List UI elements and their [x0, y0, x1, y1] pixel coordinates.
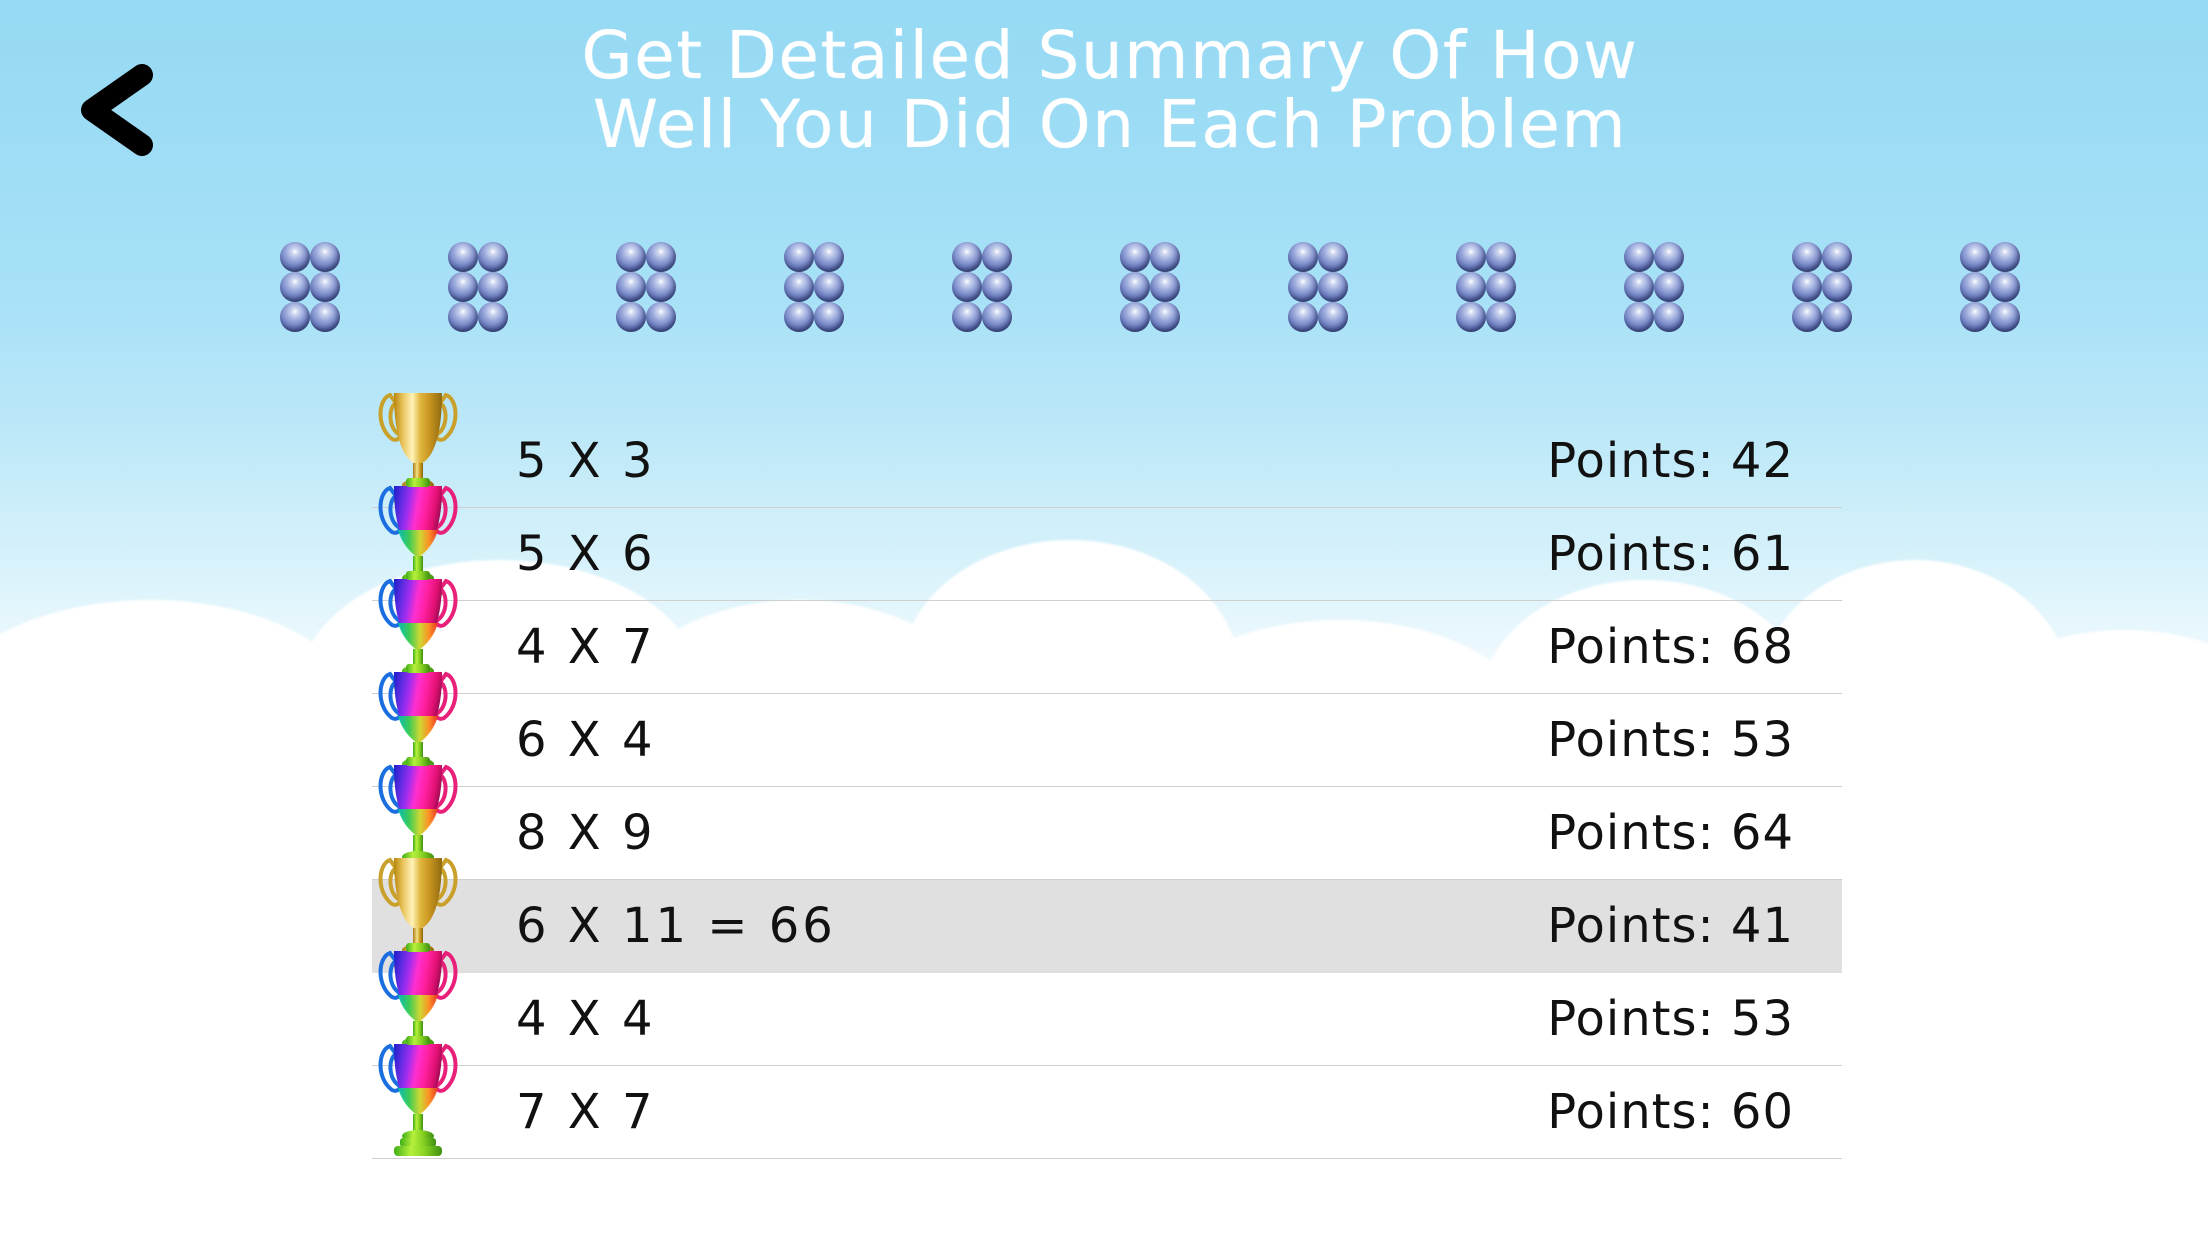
ball-icon — [1318, 242, 1348, 272]
ball-icon — [280, 242, 310, 272]
ball-icon — [1990, 242, 2020, 272]
ball-icon — [1120, 272, 1150, 302]
points-value: Points: 42 — [1547, 433, 1794, 489]
ball-icon — [784, 302, 814, 332]
ball-icon — [1456, 242, 1486, 272]
ball-cluster-icon — [784, 242, 844, 332]
ball-icon — [1150, 272, 1180, 302]
ball-icon — [1456, 302, 1486, 332]
ball-icon — [280, 302, 310, 332]
problem-text: 4 X 4 — [516, 991, 655, 1047]
problem-text: 6 X 11 = 66 — [516, 898, 836, 954]
problem-text: 7 X 7 — [516, 1084, 655, 1140]
ball-icon — [982, 302, 1012, 332]
ball-icon — [814, 242, 844, 272]
ball-icon — [1624, 242, 1654, 272]
ball-icon — [1990, 302, 2020, 332]
ball-icon — [1792, 272, 1822, 302]
problem-text: 5 X 3 — [516, 433, 655, 489]
ball-icon — [646, 272, 676, 302]
ball-icon — [1654, 242, 1684, 272]
ball-icon — [1960, 272, 1990, 302]
ball-icon — [478, 302, 508, 332]
ball-icon — [814, 272, 844, 302]
ball-icon — [1624, 272, 1654, 302]
ball-icon — [1792, 242, 1822, 272]
ball-icon — [952, 302, 982, 332]
ball-icon — [1288, 302, 1318, 332]
points-value: Points: 68 — [1547, 619, 1794, 675]
ball-icon — [310, 272, 340, 302]
dot-cluster-strip — [280, 232, 2020, 342]
ball-cluster-icon — [448, 242, 508, 332]
ball-icon — [814, 302, 844, 332]
ball-icon — [952, 272, 982, 302]
problem-text: 6 X 4 — [516, 712, 655, 768]
ball-icon — [1990, 272, 2020, 302]
trophy-gold — [370, 377, 466, 509]
ball-icon — [1120, 302, 1150, 332]
ball-icon — [1654, 302, 1684, 332]
ball-icon — [448, 302, 478, 332]
ball-cluster-icon — [616, 242, 676, 332]
result-row[interactable]: 6 X 4Points: 53 — [372, 694, 1842, 787]
result-row[interactable]: 5 X 3Points: 42 — [372, 415, 1842, 508]
problem-text: 4 X 7 — [516, 619, 655, 675]
points-value: Points: 53 — [1547, 991, 1794, 1047]
ball-icon — [646, 302, 676, 332]
results-list: 5 X 3Points: 42 — [372, 415, 1842, 1159]
ball-icon — [616, 272, 646, 302]
result-row[interactable]: 4 X 7Points: 68 — [372, 601, 1842, 694]
ball-cluster-icon — [1456, 242, 1516, 332]
ball-icon — [616, 302, 646, 332]
problem-text: 5 X 6 — [516, 526, 655, 582]
trophy-gold-icon — [370, 377, 466, 509]
ball-icon — [1318, 272, 1348, 302]
ball-icon — [982, 242, 1012, 272]
ball-icon — [448, 272, 478, 302]
ball-icon — [1318, 302, 1348, 332]
ball-icon — [280, 272, 310, 302]
ball-icon — [982, 272, 1012, 302]
ball-icon — [1288, 242, 1318, 272]
result-row[interactable]: 4 X 4Points: 53 — [372, 973, 1842, 1066]
ball-icon — [478, 242, 508, 272]
ball-icon — [1822, 242, 1852, 272]
ball-icon — [1792, 302, 1822, 332]
ball-icon — [1486, 242, 1516, 272]
ball-icon — [448, 242, 478, 272]
ball-icon — [952, 242, 982, 272]
ball-icon — [1822, 272, 1852, 302]
ball-icon — [1960, 302, 1990, 332]
ball-cluster-icon — [1624, 242, 1684, 332]
ball-cluster-icon — [1792, 242, 1852, 332]
ball-icon — [1150, 302, 1180, 332]
ball-icon — [310, 302, 340, 332]
ball-icon — [784, 242, 814, 272]
points-value: Points: 64 — [1547, 805, 1794, 861]
result-row[interactable]: 8 X 9Points: 64 — [372, 787, 1842, 880]
problem-text: 8 X 9 — [516, 805, 655, 861]
ball-icon — [1624, 302, 1654, 332]
ball-icon — [1120, 242, 1150, 272]
ball-icon — [1150, 242, 1180, 272]
result-row[interactable]: 7 X 7Points: 60 — [372, 1066, 1842, 1159]
ball-icon — [1486, 272, 1516, 302]
points-value: Points: 41 — [1547, 898, 1794, 954]
ball-icon — [1654, 272, 1684, 302]
ball-icon — [478, 272, 508, 302]
ball-icon — [310, 242, 340, 272]
ball-cluster-icon — [1960, 242, 2020, 332]
back-button[interactable] — [60, 55, 170, 160]
points-value: Points: 60 — [1547, 1084, 1794, 1140]
result-row[interactable]: 5 X 6Points: 61 — [372, 508, 1842, 601]
ball-cluster-icon — [1120, 242, 1180, 332]
ball-icon — [646, 242, 676, 272]
ball-cluster-icon — [280, 242, 340, 332]
ball-icon — [1822, 302, 1852, 332]
ball-icon — [1960, 242, 1990, 272]
points-value: Points: 53 — [1547, 712, 1794, 768]
ball-icon — [1456, 272, 1486, 302]
ball-icon — [1486, 302, 1516, 332]
page-title: Get Detailed Summary Of How Well You Did… — [300, 22, 1920, 159]
chevron-left-icon — [60, 55, 170, 160]
ball-icon — [616, 242, 646, 272]
points-value: Points: 61 — [1547, 526, 1794, 582]
ball-cluster-icon — [1288, 242, 1348, 332]
ball-icon — [784, 272, 814, 302]
ball-icon — [1288, 272, 1318, 302]
result-row-selected[interactable]: 6 X 11 = 66Points: 41 — [372, 880, 1842, 973]
app-screen: Get Detailed Summary Of How Well You Did… — [0, 0, 2208, 1242]
ball-cluster-icon — [952, 242, 1012, 332]
